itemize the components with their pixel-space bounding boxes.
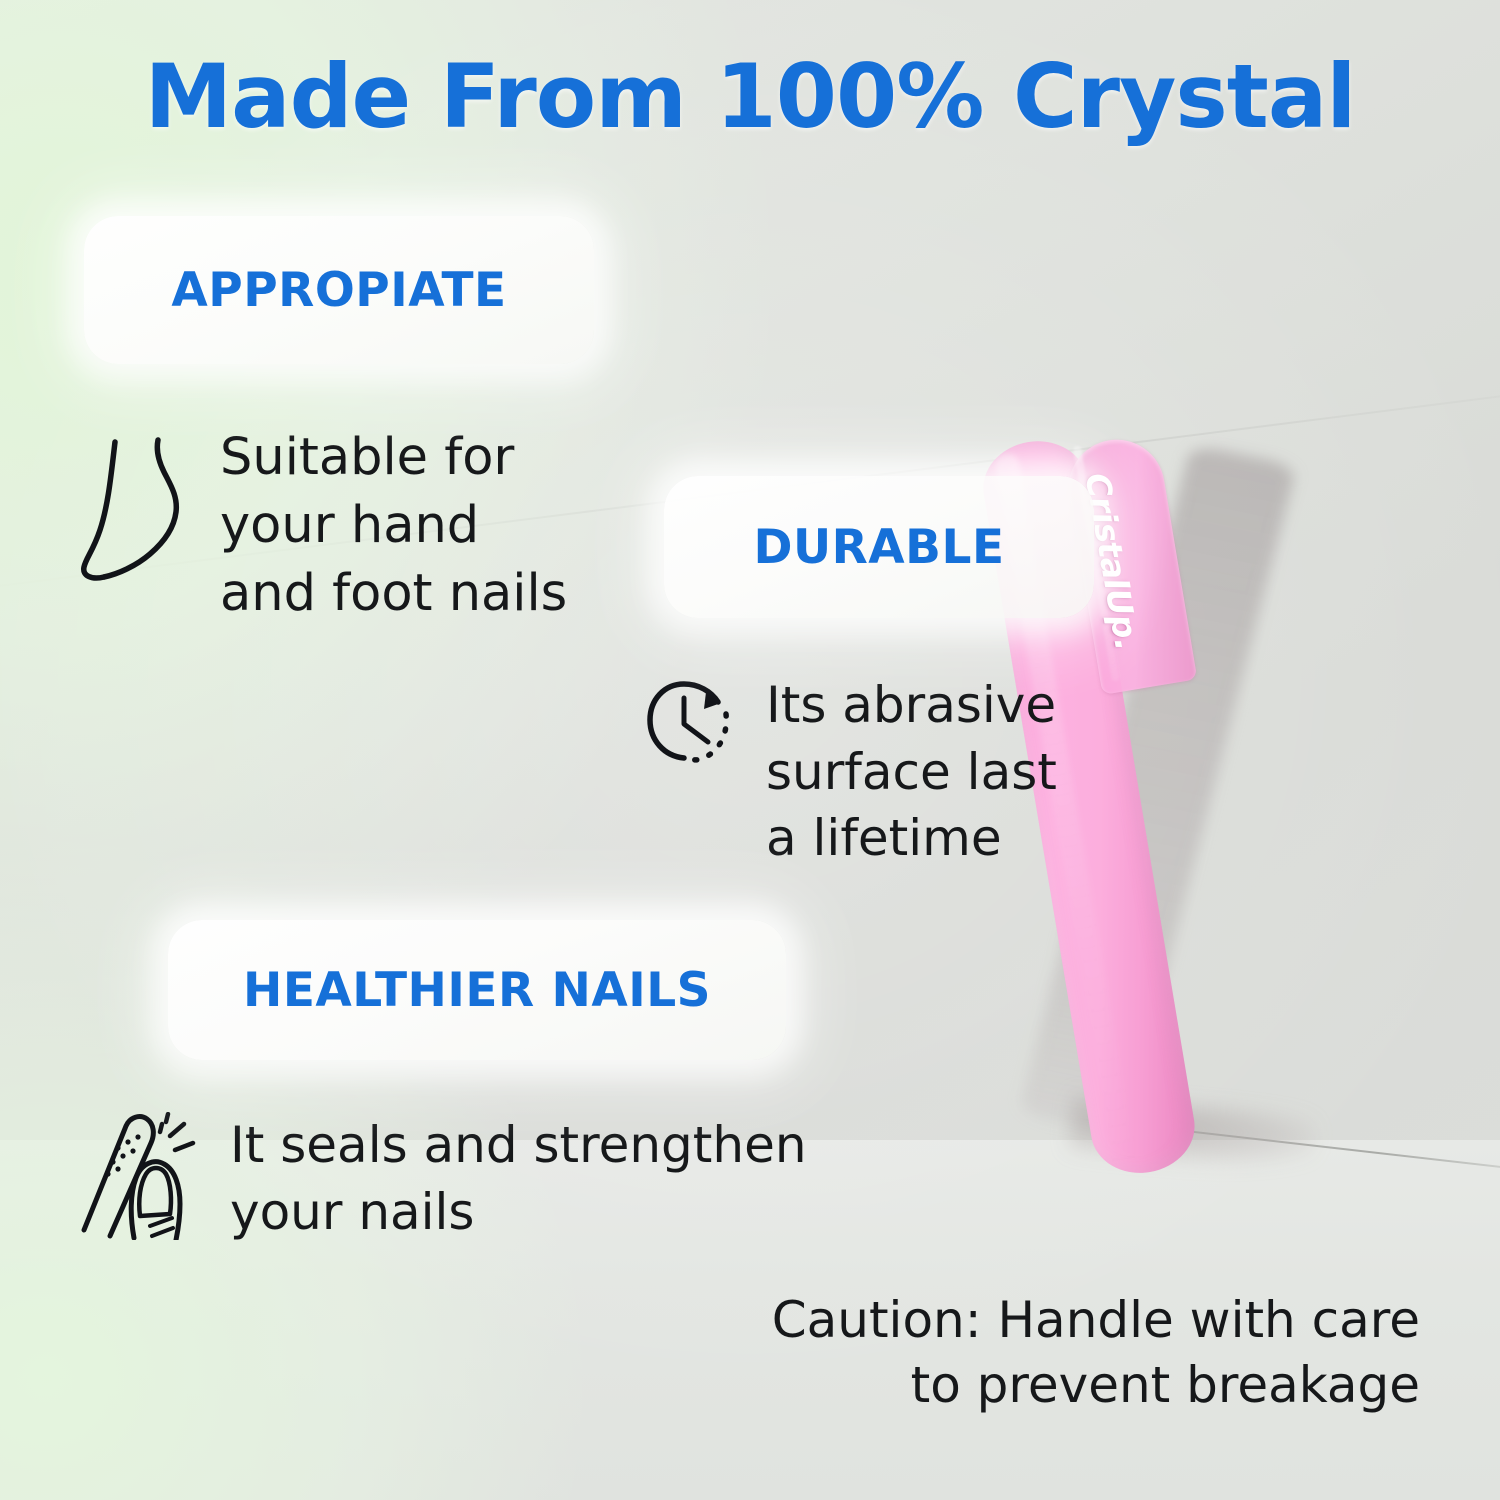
- feature-hand-foot: Suitable for your hand and foot nails: [78, 424, 638, 627]
- infographic-canvas: CristalUp. Made From 100% Crystal APPROP…: [0, 0, 1500, 1500]
- page-title-part1: Made From: [145, 45, 716, 148]
- page-title: Made From 100% Crystal: [0, 52, 1500, 142]
- feature-hand-foot-text: Suitable for your hand and foot nails: [220, 424, 567, 627]
- feature-abrasive-surface-text: Its abrasive surface last a lifetime: [766, 672, 1057, 872]
- badge-durable: DURABLE: [664, 476, 1094, 618]
- badge-healthier-nails: HEALTHIER NAILS: [168, 920, 786, 1060]
- foot-icon: [78, 424, 202, 589]
- badge-healthier-nails-label: HEALTHIER NAILS: [243, 963, 711, 1018]
- caution-note: Caution: Handle with care to prevent bre…: [560, 1288, 1420, 1418]
- badge-durable-label: DURABLE: [753, 520, 1004, 575]
- feature-seals-strengthen: It seals and strengthen your nails: [72, 1112, 902, 1245]
- page-title-part2: 100% Crystal: [716, 45, 1356, 148]
- badge-appropiate-label: APPROPIATE: [171, 263, 506, 318]
- badge-appropiate: APPROPIATE: [84, 216, 594, 364]
- clock-icon: [640, 672, 748, 789]
- feature-abrasive-surface: Its abrasive surface last a lifetime: [640, 672, 1080, 872]
- nail-file-icon: [72, 1112, 212, 1245]
- feature-seals-strengthen-text: It seals and strengthen your nails: [230, 1112, 807, 1245]
